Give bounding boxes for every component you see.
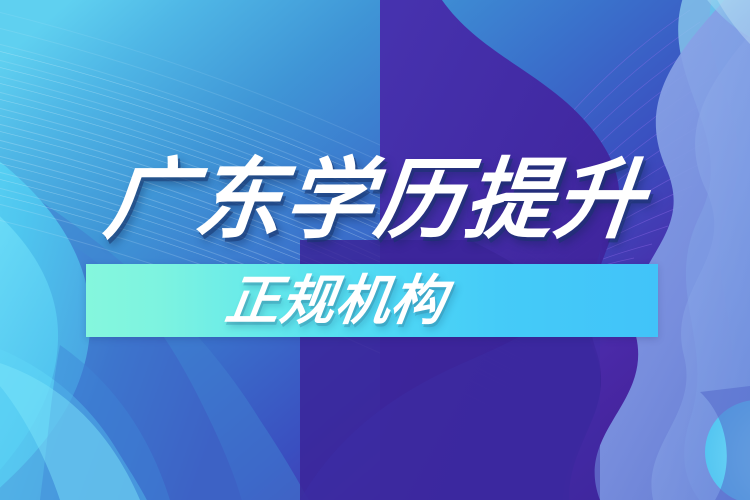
subtitle-text: 正规机构	[222, 272, 450, 330]
subtitle-banner-inner: 正规机构	[86, 264, 658, 337]
promo-poster: 广东学历提升 正规机构	[0, 0, 750, 500]
subtitle-banner: 正规机构	[86, 264, 658, 337]
background-artwork	[0, 0, 750, 500]
